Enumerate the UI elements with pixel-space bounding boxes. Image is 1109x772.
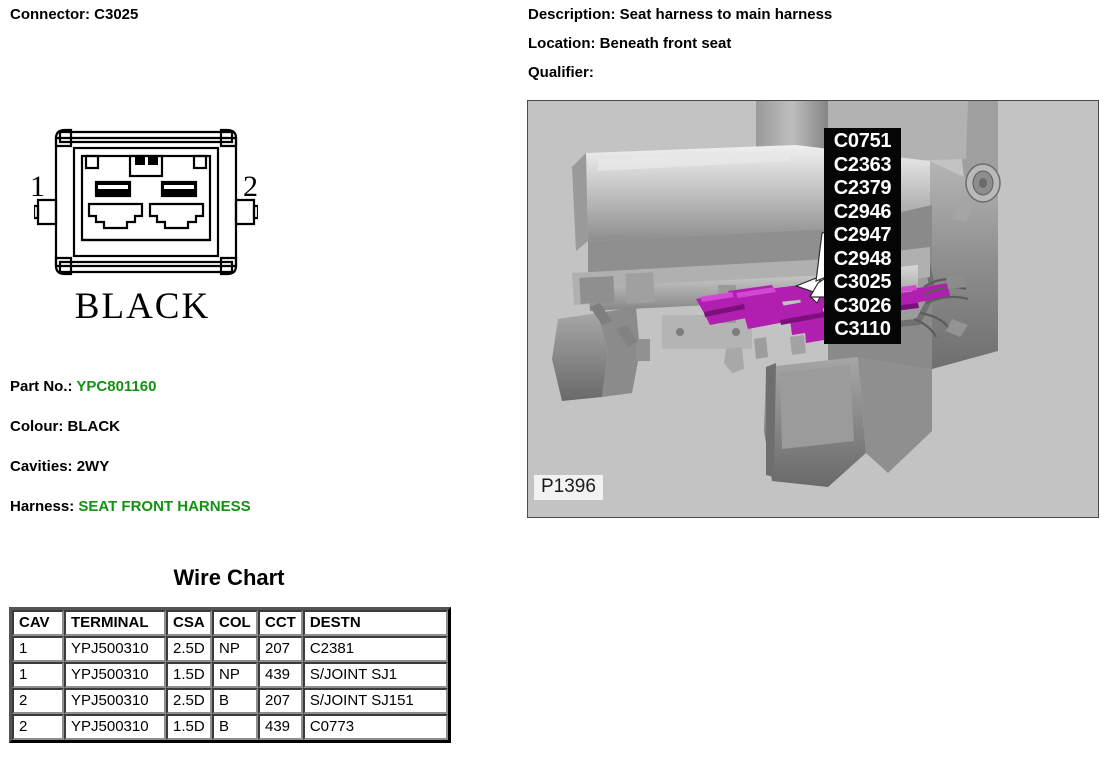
- cavities-row: Cavities: 2WY: [10, 458, 251, 475]
- cell-destn: S/JOINT SJ1: [303, 662, 448, 688]
- part-no-label: Part No.:: [10, 378, 76, 395]
- harness-value[interactable]: SEAT FRONT HARNESS: [78, 498, 250, 515]
- pin-number-1: 1: [30, 172, 45, 202]
- callout-item: C2946: [824, 201, 901, 225]
- wire-chart-title: Wire Chart: [0, 565, 458, 591]
- column-header-cct: CCT: [258, 610, 303, 636]
- cell-terminal: YPJ500310: [64, 688, 166, 714]
- cell-destn: C2381: [303, 636, 448, 662]
- table-row: 1 YPJ500310 2.5D NP 207 C2381: [12, 636, 448, 662]
- column-header-destn: DESTN: [303, 610, 448, 636]
- cell-cav: 1: [12, 662, 64, 688]
- column-header-col: COL: [212, 610, 258, 636]
- cell-terminal: YPJ500310: [64, 714, 166, 740]
- cell-cct: 207: [258, 636, 303, 662]
- callout-item: C2948: [824, 248, 901, 272]
- connector-colour-caption: BLACK: [0, 288, 285, 325]
- cell-csa: 2.5D: [166, 636, 212, 662]
- cell-col: NP: [212, 662, 258, 688]
- table-row: 1 YPJ500310 1.5D NP 439 S/JOINT SJ1: [12, 662, 448, 688]
- table-row: 2 YPJ500310 2.5D B 207 S/JOINT SJ151: [12, 688, 448, 714]
- callout-item: C2379: [824, 177, 901, 201]
- colour-row: Colour: BLACK: [10, 418, 251, 435]
- connector-id-label: Connector: C3025: [10, 6, 138, 23]
- column-header-cav: CAV: [12, 610, 64, 636]
- callout-item: C3026: [824, 295, 901, 319]
- callout-item: C2947: [824, 224, 901, 248]
- part-no-value[interactable]: YPC801160: [76, 378, 156, 395]
- callout-item: C3025: [824, 271, 901, 295]
- harness-label: Harness:: [10, 498, 78, 515]
- cell-destn: S/JOINT SJ151: [303, 688, 448, 714]
- cell-col: NP: [212, 636, 258, 662]
- description-row: Description: Seat harness to main harnes…: [528, 6, 832, 23]
- connector-callout-list: C0751 C2363 C2379 C2946 C2947 C2948 C302…: [824, 128, 901, 344]
- cell-cct: 439: [258, 662, 303, 688]
- wire-chart-table: CAV TERMINAL CSA COL CCT DESTN 1 YPJ5003…: [9, 607, 451, 743]
- cell-cct: 439: [258, 714, 303, 740]
- colour-value: BLACK: [68, 418, 121, 435]
- cell-csa: 2.5D: [166, 688, 212, 714]
- cavities-value: 2WY: [77, 458, 110, 475]
- callout-item: C2363: [824, 154, 901, 178]
- cell-csa: 1.5D: [166, 714, 212, 740]
- cell-cav: 1: [12, 636, 64, 662]
- table-row: 2 YPJ500310 1.5D B 439 C0773: [12, 714, 448, 740]
- qualifier-row: Qualifier:: [528, 64, 832, 81]
- cell-csa: 1.5D: [166, 662, 212, 688]
- callout-item: C0751: [824, 130, 901, 154]
- harness-row: Harness: SEAT FRONT HARNESS: [10, 498, 251, 515]
- cell-cct: 207: [258, 688, 303, 714]
- pin-number-2: 2: [243, 172, 258, 202]
- cell-terminal: YPJ500310: [64, 662, 166, 688]
- connector-metadata: Part No.: YPC801160 Colour: BLACK Caviti…: [10, 378, 251, 538]
- seat-location-illustration: C0751 C2363 C2379 C2946 C2947 C2948 C302…: [527, 100, 1099, 518]
- cavities-label: Cavities:: [10, 458, 77, 475]
- callout-item: C3110: [824, 318, 901, 342]
- column-header-terminal: TERMINAL: [64, 610, 166, 636]
- description-block: Description: Seat harness to main harnes…: [528, 6, 832, 93]
- connector-face-diagram: [34, 128, 258, 276]
- column-header-csa: CSA: [166, 610, 212, 636]
- cell-col: B: [212, 714, 258, 740]
- cell-col: B: [212, 688, 258, 714]
- part-no-row: Part No.: YPC801160: [10, 378, 251, 395]
- cell-cav: 2: [12, 688, 64, 714]
- location-row: Location: Beneath front seat: [528, 35, 832, 52]
- colour-label: Colour:: [10, 418, 68, 435]
- illustration-id-label: P1396: [534, 475, 603, 500]
- cell-destn: C0773: [303, 714, 448, 740]
- cell-terminal: YPJ500310: [64, 636, 166, 662]
- table-header-row: CAV TERMINAL CSA COL CCT DESTN: [12, 610, 448, 636]
- cell-cav: 2: [12, 714, 64, 740]
